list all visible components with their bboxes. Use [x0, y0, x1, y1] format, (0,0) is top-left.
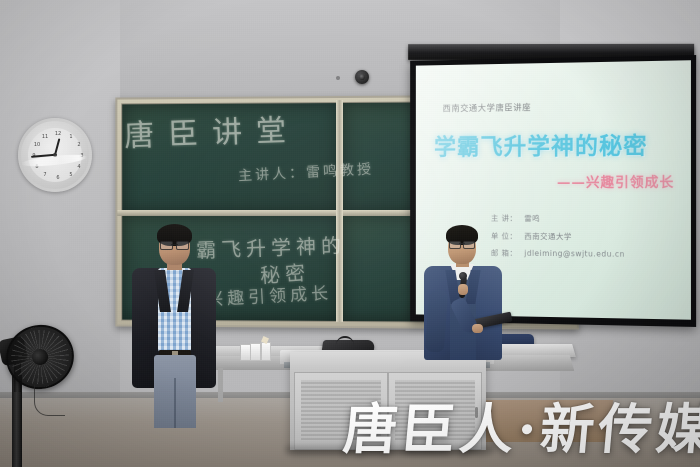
clock-hour-12: 12 [53, 131, 63, 137]
person-host-right [424, 228, 502, 360]
slide-subtitle: ——兴趣引领成长 [557, 171, 674, 191]
paper-box [250, 343, 261, 361]
hand-holding-clipboard [472, 324, 483, 333]
wall-clock: 12 1 2 3 4 5 6 7 8 9 10 11 [18, 118, 92, 192]
glasses-icon [160, 241, 189, 248]
jeans-seam [174, 378, 176, 428]
glasses-lens [176, 241, 189, 250]
meta-key: 主 讲： [491, 213, 524, 224]
hand-holding-microphone [458, 284, 468, 295]
clock-hour-11: 11 [40, 134, 50, 140]
watermark: 唐臣人·新传媒 [341, 385, 700, 464]
clock-hour-6: 6 [53, 175, 63, 181]
meta-value: 雷鸣 [524, 214, 540, 223]
slide-meta-row: 主 讲：雷鸣 [491, 213, 625, 225]
clock-hour-4: 4 [74, 164, 84, 170]
camera-lens [359, 74, 365, 80]
clock-hour-5: 5 [66, 172, 76, 178]
glasses-bridge [171, 244, 178, 245]
blackboard-divider [336, 100, 343, 322]
ceiling-camera-icon [355, 70, 369, 84]
person-speaker-left [132, 228, 216, 428]
clock-hour-2: 2 [74, 142, 84, 148]
clock-hour-10: 10 [32, 142, 42, 148]
glasses-bridge [459, 243, 465, 244]
side-desk-left-leg [218, 368, 223, 402]
clock-hour-1: 1 [66, 134, 76, 140]
clock-hour-7: 7 [40, 172, 50, 178]
slide-title: 学霸飞升学神的秘密 [434, 126, 648, 161]
fan-cord [34, 385, 65, 416]
slide-meta-row: 单 位：西南交通大学 [491, 230, 625, 242]
paper-box [261, 342, 271, 361]
blackboard-panel [121, 102, 340, 214]
lecture-hall-photo: 12 1 2 3 4 5 6 7 8 9 10 11 [0, 0, 700, 467]
glasses-icon [449, 241, 475, 247]
wall-fixing-mark [336, 76, 340, 80]
slide-header: 西南交通大学唐臣讲座 [443, 101, 532, 114]
glasses-lens [160, 241, 173, 250]
microphone-head [459, 272, 467, 280]
bag-strap [336, 336, 354, 345]
meta-value: 西南交通大学 [524, 231, 572, 240]
